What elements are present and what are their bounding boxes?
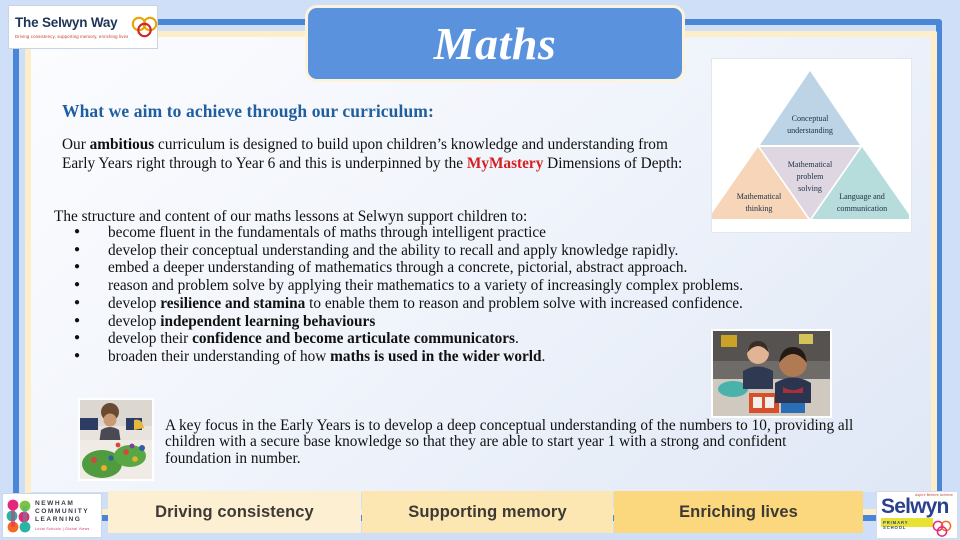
slide-title-box: Maths (308, 8, 682, 79)
bullet-text: broaden their understanding of how (108, 348, 330, 365)
list-item: develop independent learning behaviours (62, 313, 862, 330)
label-conceptual-2: understanding (787, 126, 833, 135)
label-problem-3: solving (798, 184, 822, 193)
slide-root: The Selwyn Way Driving consistency, supp… (0, 0, 960, 540)
early-years-paragraph: A key focus in the Early Years is to dev… (165, 418, 855, 467)
bullet-text: become fluent in the fundamentals of mat… (108, 224, 546, 241)
selwyn-sub-text: PRIMARY SCHOOL (881, 518, 933, 530)
footer-label: Driving consistency (155, 503, 314, 522)
label-problem-2: problem (797, 172, 825, 181)
interlocking-rings-icon (128, 16, 162, 38)
footer-bar-driving-consistency[interactable]: Driving consistency (108, 491, 361, 533)
selwyn-primary-school-logo: Aspire Believe Achieve Selwyn PRIMARY SC… (876, 491, 958, 539)
list-item: develop resilience and stamina to enable… (62, 295, 862, 312)
bullet-bold: independent learning behaviours (160, 313, 375, 330)
selwyn-sub-banner: PRIMARY SCHOOL (881, 518, 933, 527)
bullet-text: develop (108, 313, 160, 330)
label-language-2: communication (837, 204, 887, 213)
selwyn-rings-icon (930, 520, 954, 537)
selwyn-way-text: The Selwyn Way Driving consistency, supp… (15, 15, 128, 39)
bullet-text: develop their (108, 330, 192, 347)
intro-bold-ambitious: ambitious (90, 136, 155, 153)
bullet-tail: . (515, 330, 519, 347)
label-thinking-1: Mathematical (737, 192, 782, 201)
footer-label: Enriching lives (679, 503, 798, 522)
bullet-tail: to enable them to reason and problem sol… (305, 295, 743, 312)
selwyn-way-title: The Selwyn Way (15, 15, 128, 30)
label-language-1: Language and (839, 192, 885, 201)
bullet-tail: . (542, 348, 546, 365)
bullet-bold: confidence and become articulate communi… (192, 330, 515, 347)
newham-text-block: NEWHAM COMMUNITY LEARNING Local Schools … (35, 500, 90, 532)
footer-bar-enriching-lives[interactable]: Enriching lives (614, 491, 863, 533)
footer-bar-supporting-memory[interactable]: Supporting memory (362, 491, 613, 533)
newham-line-3: LEARNING (35, 516, 90, 524)
newham-tagline: Local Schools | Global Views (35, 527, 90, 531)
bullet-text: develop their conceptual understanding a… (108, 242, 678, 259)
bullet-bold: maths is used in the wider world (330, 348, 541, 365)
newham-line-1: NEWHAM (35, 500, 90, 508)
dimensions-of-depth-diagram: Conceptual understanding Mathematical pr… (711, 58, 912, 233)
newham-community-learning-logo: NEWHAM COMMUNITY LEARNING Local Schools … (2, 493, 102, 538)
label-problem-1: Mathematical (788, 160, 833, 169)
bullet-text: reason and problem solve by applying the… (108, 277, 743, 294)
aim-heading: What we aim to achieve through our curri… (62, 101, 434, 122)
label-thinking-2: thinking (746, 204, 773, 213)
page-title: Maths (434, 17, 557, 70)
list-item: develop their conceptual understanding a… (62, 242, 862, 259)
intro-paragraph: Our ambitious curriculum is designed to … (62, 135, 690, 173)
intro-part3: Dimensions of Depth: (543, 155, 682, 172)
list-item: embed a deeper understanding of mathemat… (62, 259, 862, 276)
newham-dots-icon (6, 499, 32, 533)
bullet-text: embed a deeper understanding of mathemat… (108, 259, 687, 276)
selwyn-way-logo: The Selwyn Way Driving consistency, supp… (8, 5, 158, 49)
label-conceptual-1: Conceptual (792, 114, 830, 123)
footer-label: Supporting memory (408, 503, 566, 522)
newham-line-2: COMMUNITY (35, 508, 90, 516)
photo-children-maths-lesson (711, 329, 832, 418)
intro-part1: Our (62, 136, 90, 153)
bullet-text: develop (108, 295, 160, 312)
selwyn-name: Selwyn (877, 497, 957, 517)
bullet-bold: resilience and stamina (160, 295, 305, 312)
photo-early-years-activity (78, 398, 154, 481)
selwyn-way-tagline: Driving consistency, supporting memory, … (15, 34, 128, 39)
mymastery-highlight: MyMastery (467, 155, 543, 172)
list-item: reason and problem solve by applying the… (62, 277, 862, 294)
